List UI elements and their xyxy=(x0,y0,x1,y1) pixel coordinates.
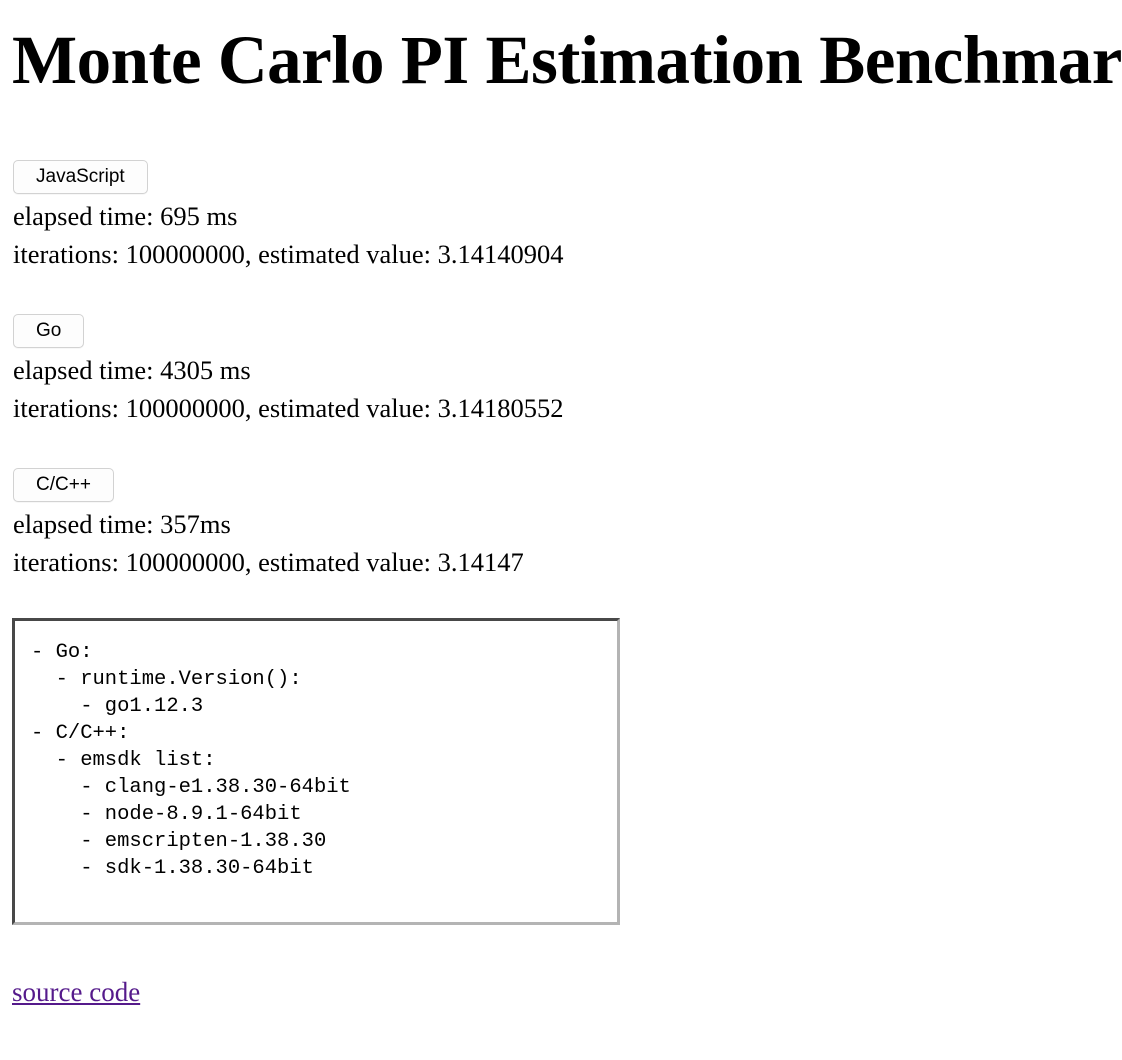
benchmark-section-javascript: JavaScript elapsed time: 695 ms iteratio… xyxy=(0,160,564,273)
iterations-estimate-c-cpp: iterations: 100000000, estimated value: … xyxy=(13,543,524,581)
elapsed-time-go: elapsed time: 4305 ms xyxy=(13,351,564,389)
benchmark-section-c-cpp: C/C++ elapsed time: 357ms iterations: 10… xyxy=(0,468,524,581)
benchmark-section-go: Go elapsed time: 4305 ms iterations: 100… xyxy=(0,314,564,427)
toolchain-versions-box: - Go: - runtime.Version(): - go1.12.3 - … xyxy=(12,618,620,925)
language-label-c-cpp[interactable]: C/C++ xyxy=(13,468,114,502)
toolchain-versions-text: - Go: - runtime.Version(): - go1.12.3 - … xyxy=(31,639,607,882)
elapsed-time-javascript: elapsed time: 695 ms xyxy=(13,197,564,235)
iterations-estimate-go: iterations: 100000000, estimated value: … xyxy=(13,389,564,427)
elapsed-time-c-cpp: elapsed time: 357ms xyxy=(13,505,524,543)
page-title: Monte Carlo PI Estimation Benchmark xyxy=(0,26,1122,95)
language-label-javascript[interactable]: JavaScript xyxy=(13,160,148,194)
source-code-link[interactable]: source code xyxy=(12,976,140,1008)
iterations-estimate-javascript: iterations: 100000000, estimated value: … xyxy=(13,235,564,273)
language-label-go[interactable]: Go xyxy=(13,314,84,348)
